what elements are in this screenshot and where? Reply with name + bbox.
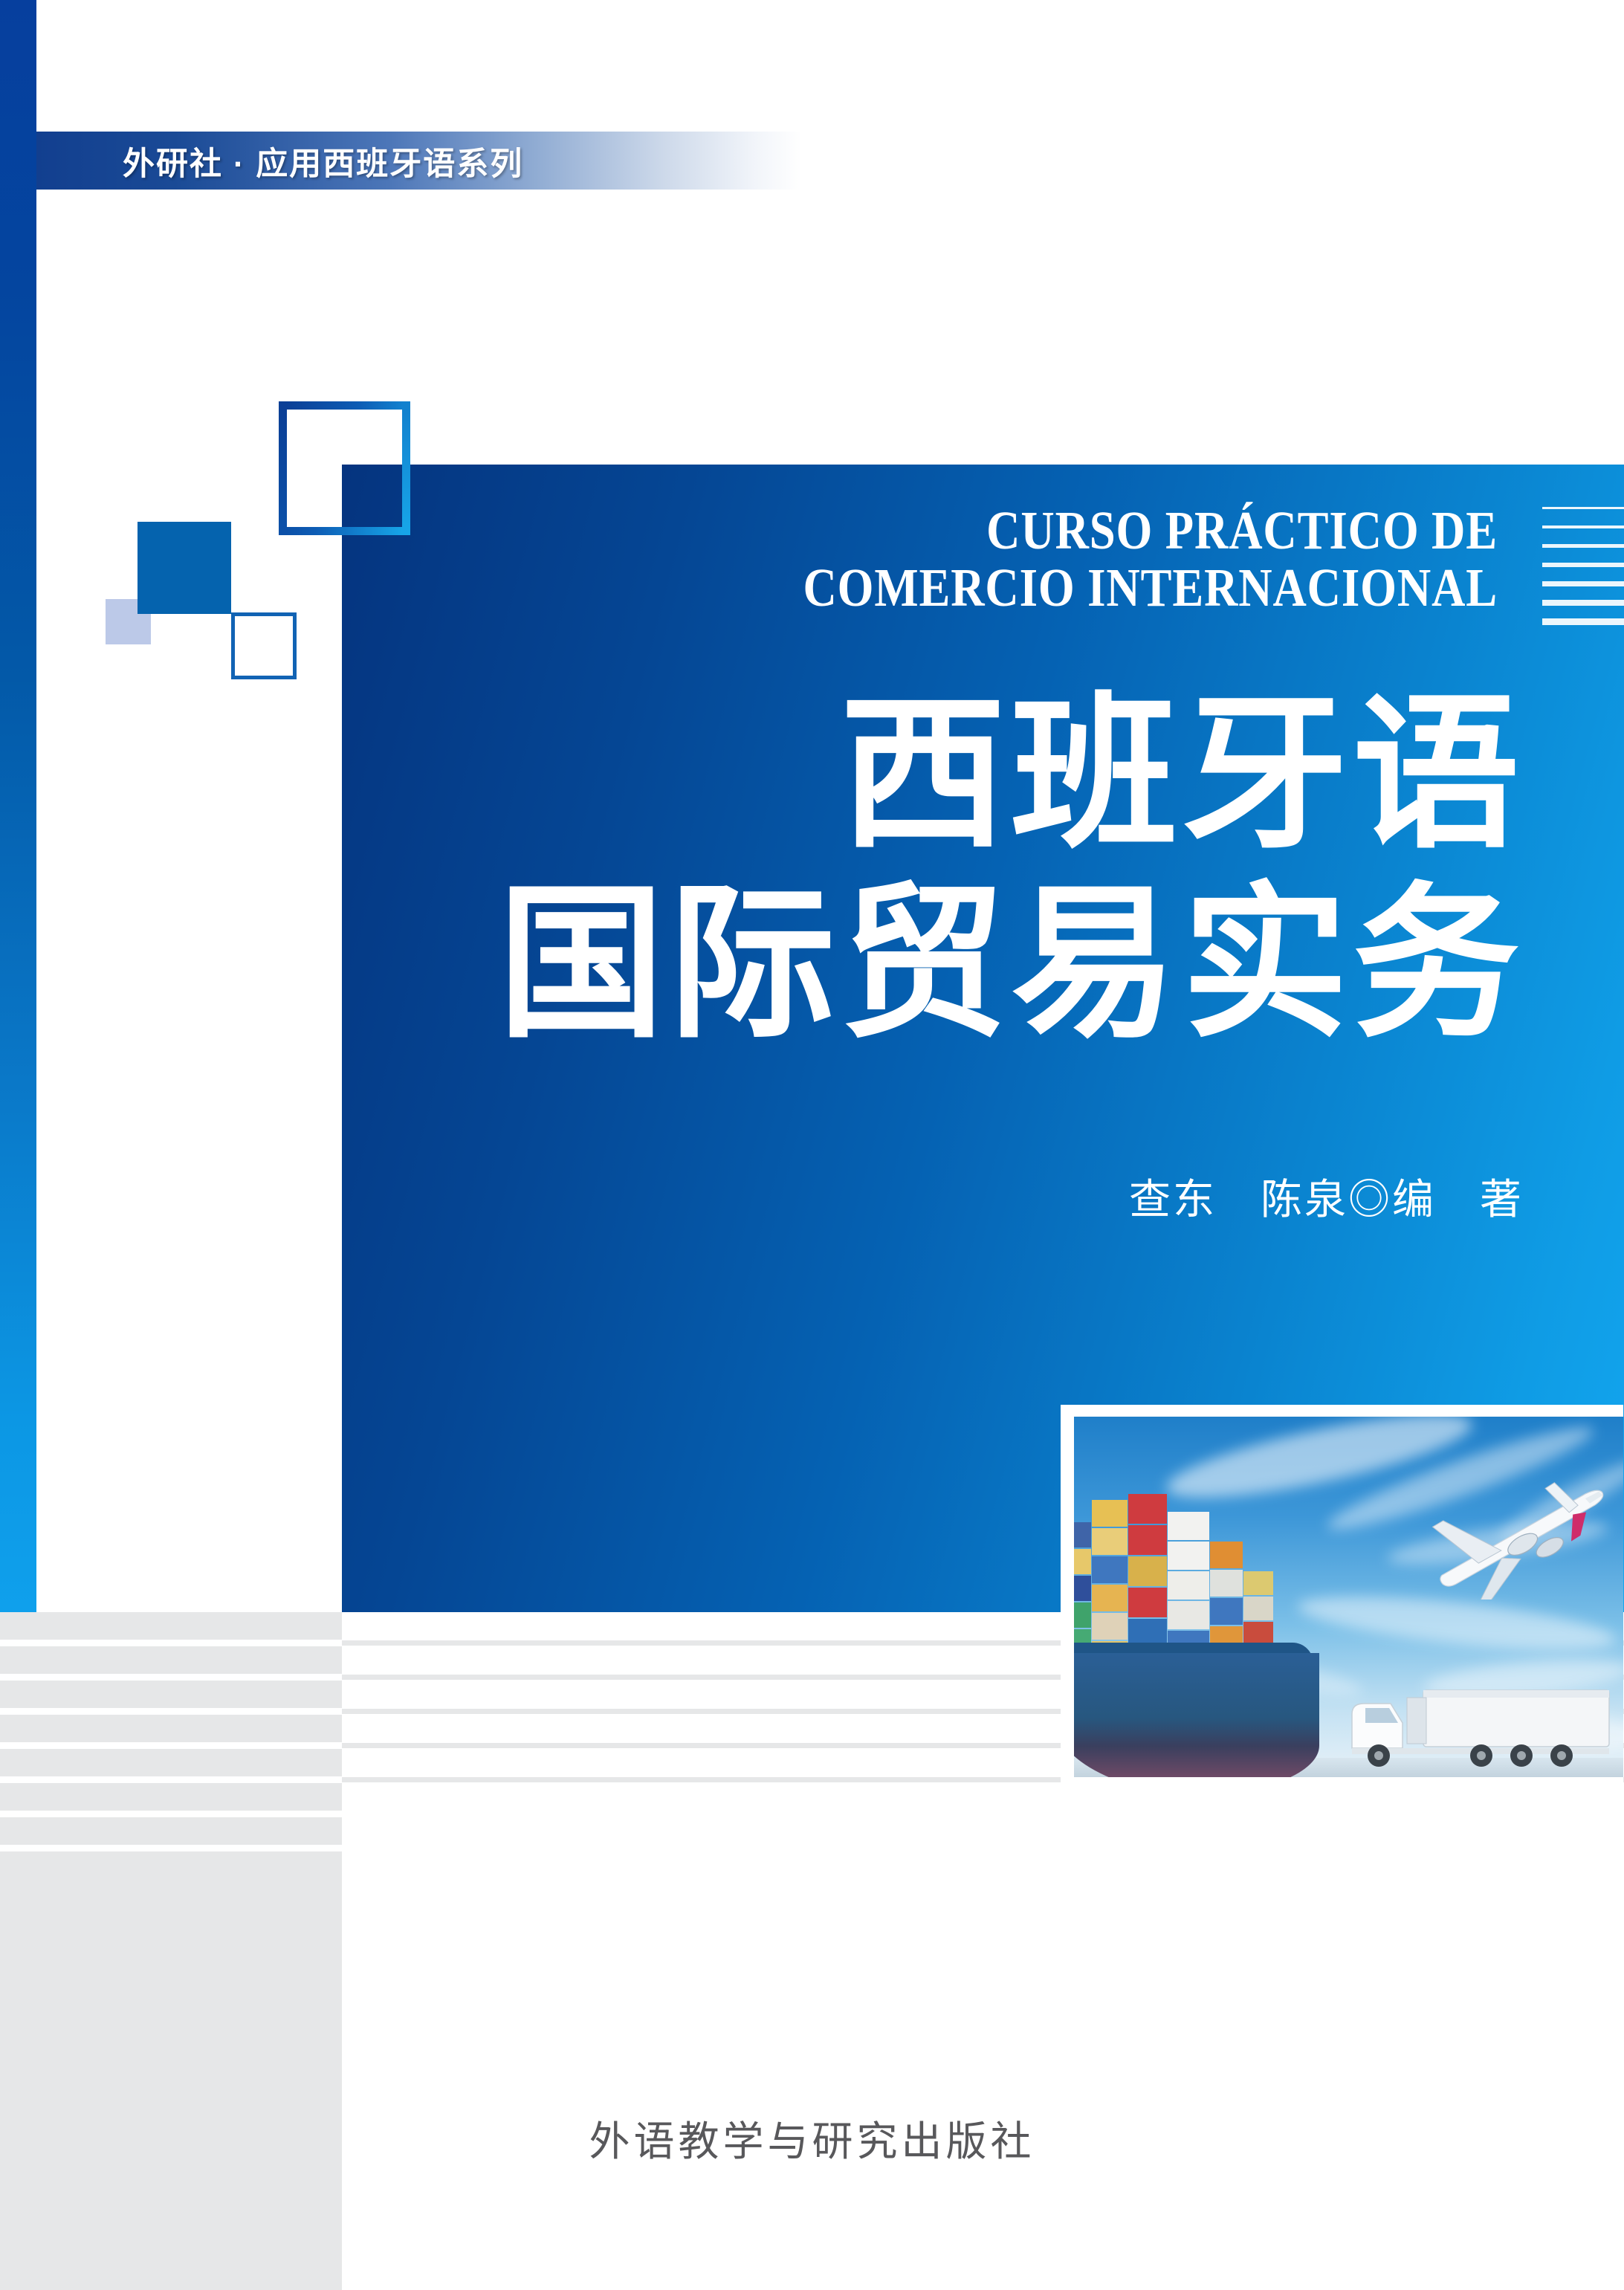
- ship-hull: [1074, 1653, 1319, 1777]
- stripe-band-left: [0, 1612, 342, 2290]
- rule-line: [1542, 618, 1624, 625]
- stripe: [0, 1646, 342, 1674]
- decorative-square-filled: [138, 522, 231, 614]
- rule-line: [1542, 544, 1624, 548]
- decorative-square-outline-small: [231, 612, 297, 679]
- stripe: [0, 1681, 342, 1708]
- series-label: 外研社 · 应用西班牙语系列: [123, 138, 523, 184]
- rule-line: [1542, 563, 1624, 567]
- container-stack: [1092, 1500, 1128, 1656]
- container-stack: [1128, 1494, 1167, 1656]
- rule-line: [1542, 600, 1624, 606]
- spanish-title: CURSO PRÁCTICO DE COMERCIO INTERNACIONAL: [504, 502, 1498, 617]
- stripe: [0, 1783, 342, 1811]
- spanish-title-line-2: COMERCIO INTERNACIONAL: [504, 559, 1498, 616]
- book-cover: 外研社 · 应用西班牙语系列 CURSO PRÁCTICO DE COMERCI…: [0, 0, 1624, 2290]
- stripe: [0, 1612, 342, 1640]
- stripe: [0, 1817, 342, 1845]
- main-title: 西班牙语 国际贸易实务: [342, 680, 1524, 1060]
- authors-line: 查东 陈泉◎编 著: [342, 1166, 1524, 1226]
- stripe-block: [0, 1851, 342, 2290]
- left-gradient-strip: [0, 0, 36, 1612]
- photo-frame: [1061, 1405, 1623, 1788]
- publisher-name: 外语教学与研究出版社: [0, 2108, 1624, 2167]
- stripe: [0, 1715, 342, 1742]
- main-title-line-2: 国际贸易实务: [342, 870, 1524, 1059]
- logistics-photo: [1074, 1417, 1623, 1777]
- stripe: [0, 1749, 342, 1776]
- rule-line: [1542, 581, 1624, 586]
- spanish-title-line-1: CURSO PRÁCTICO DE: [504, 502, 1498, 559]
- decorative-rule-stack: [1542, 507, 1624, 625]
- container-stack: [1168, 1512, 1209, 1656]
- rule-line: [1542, 507, 1624, 509]
- rule-line: [1542, 525, 1624, 528]
- decorative-square-outline-large: [279, 401, 410, 535]
- airplane-icon: [1410, 1481, 1623, 1600]
- container-stack: [1074, 1522, 1091, 1656]
- container-stack: [1210, 1542, 1243, 1656]
- main-title-line-1: 西班牙语: [342, 680, 1524, 870]
- truck-icon: [1336, 1684, 1618, 1773]
